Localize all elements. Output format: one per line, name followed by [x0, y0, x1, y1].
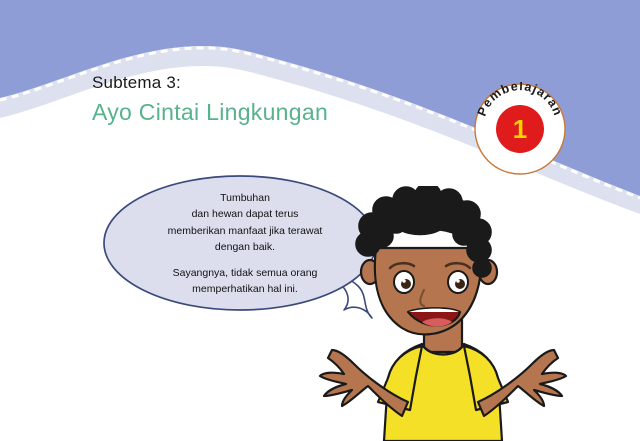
- textbook-page: Subtema 3: Ayo Cintai Lingkungan Pembela…: [0, 0, 640, 441]
- character-eye-highlight-left: [402, 279, 406, 283]
- badge-inner-circle: [496, 105, 544, 153]
- page-title: Ayo Cintai Lingkungan: [92, 99, 452, 127]
- pembelajaran-badge: Pembelajaran 1: [473, 82, 567, 176]
- page-header: Subtema 3: Ayo Cintai Lingkungan: [92, 72, 452, 127]
- subtema-label: Subtema 3:: [92, 72, 452, 93]
- boy-character-illustration: [312, 186, 580, 441]
- character-eye-highlight-right: [456, 279, 460, 283]
